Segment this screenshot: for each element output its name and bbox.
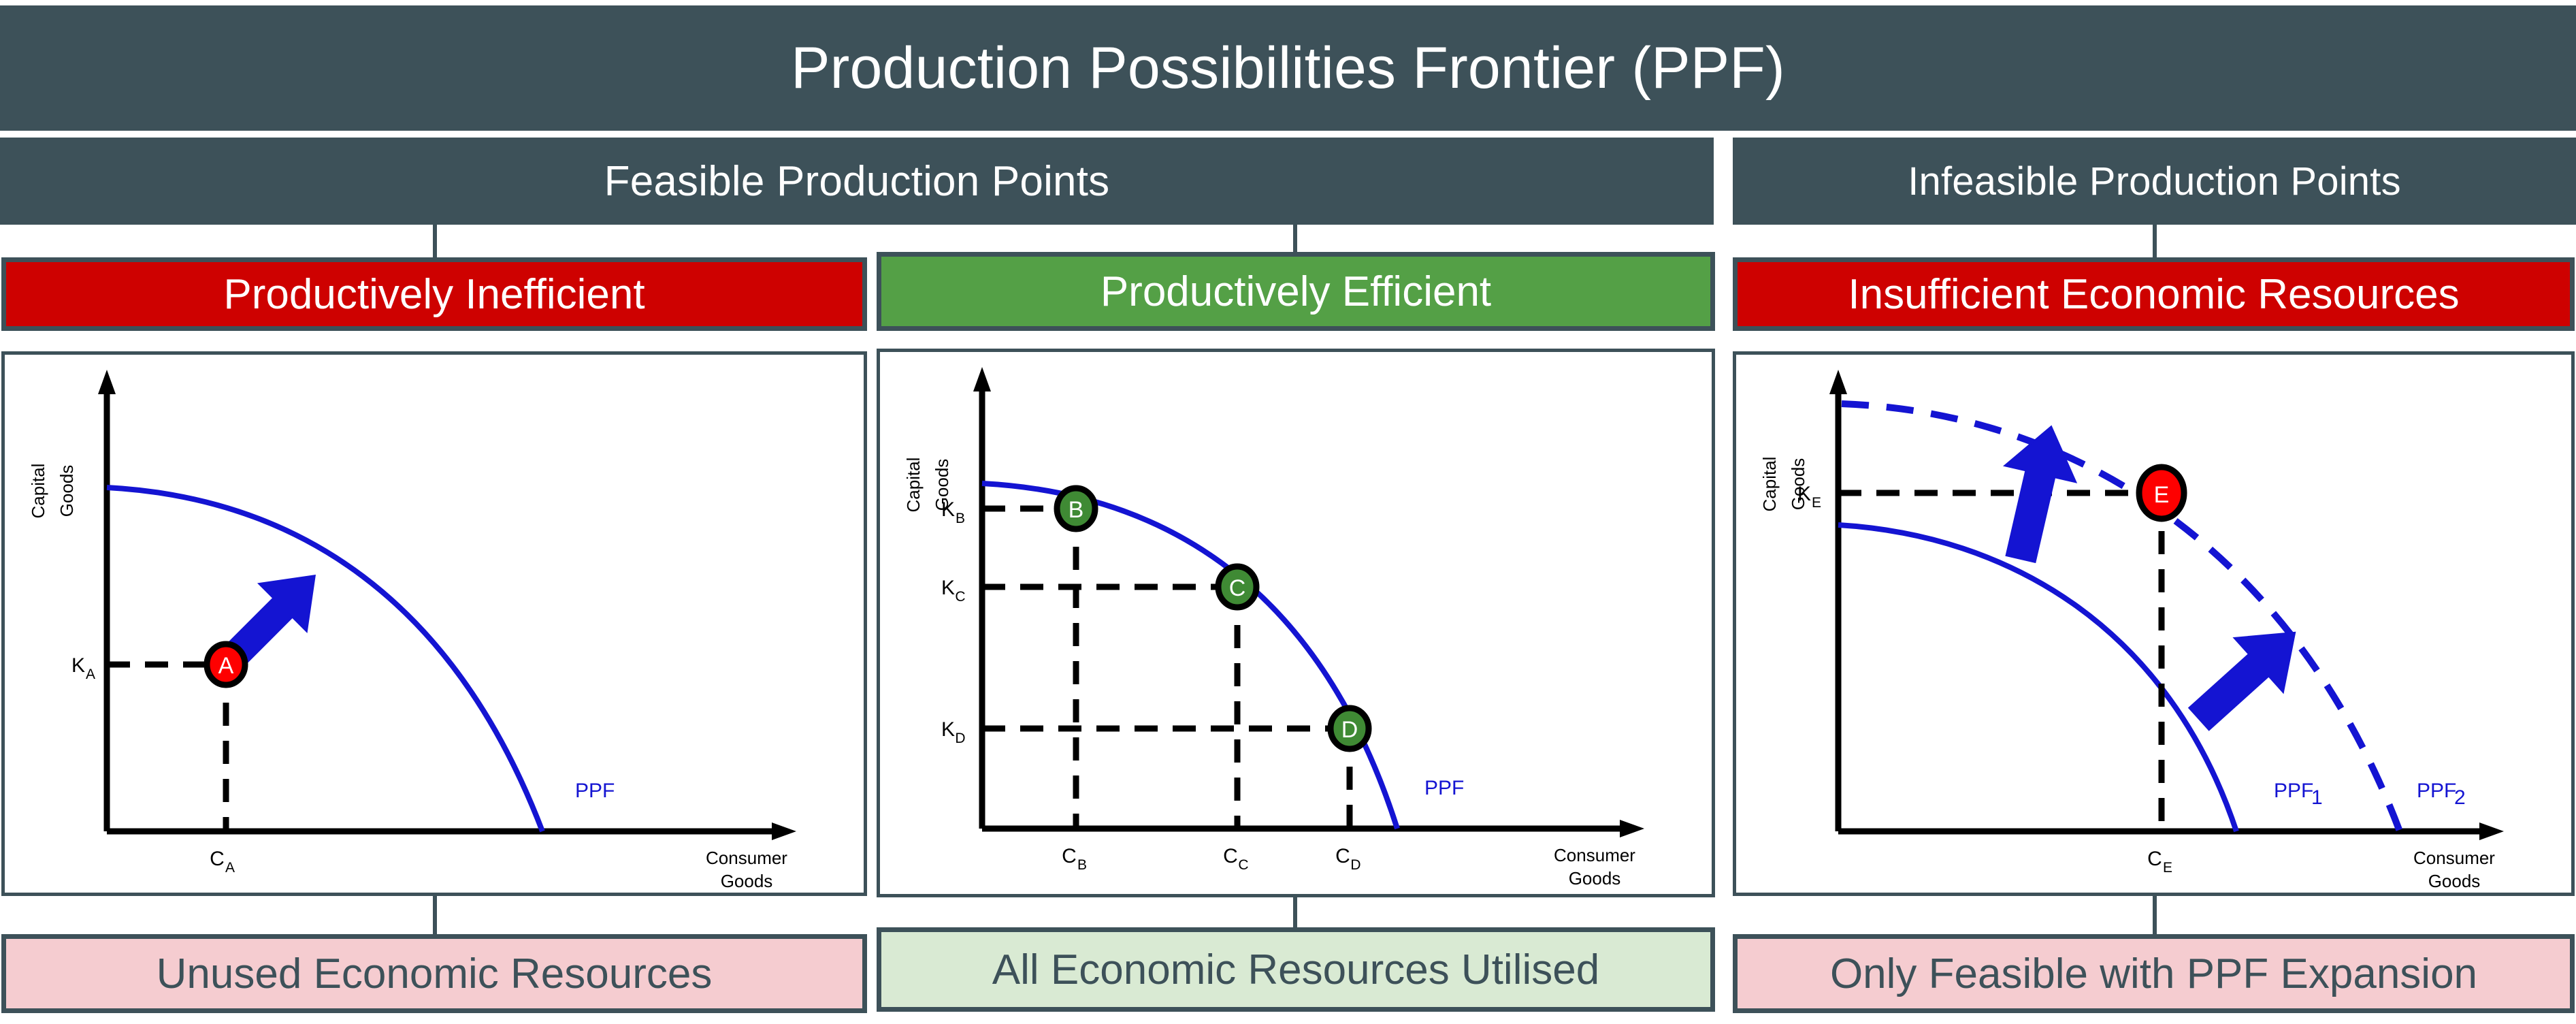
y-axis-title-a: Capital Goods	[28, 464, 77, 519]
infeasible-branch-header: Infeasible Production Points	[1733, 138, 2576, 225]
chart-panel-inefficient: Capital Goods Consumer Goods A K A C A P…	[1, 351, 867, 896]
ppf1-curve-label-c: PPF 1	[2274, 780, 2323, 809]
x-tick-cb-sub: B	[1077, 857, 1087, 873]
main-title: Production Possibilities Frontier (PPF)	[0, 5, 2576, 131]
x-axis-title-line2-a: Goods	[721, 871, 773, 891]
x-axis-title-line1-b: Consumer	[1554, 845, 1635, 865]
ppf2-curve-label-c: PPF 2	[2417, 780, 2466, 809]
y-tick-kc: K C	[941, 577, 966, 605]
connector-caption-left	[433, 896, 437, 934]
category-inefficient-label: Productively Inefficient	[223, 270, 645, 319]
chart-panel-insufficient: Capital Goods Consumer Goods E K E	[1733, 351, 2575, 896]
x-tick-ce-sub: E	[2163, 860, 2172, 876]
y-axis-title-line1-c: Capital	[1759, 457, 1780, 512]
feasible-branch-header: Feasible Production Points	[0, 138, 1714, 225]
ppf1-label-base: PPF	[2274, 780, 2313, 802]
connector-infeasible	[2153, 225, 2157, 259]
axes-a	[98, 370, 796, 840]
infeasible-branch-label: Infeasible Production Points	[1908, 159, 2401, 204]
category-efficient-label: Productively Efficient	[1100, 268, 1491, 316]
connector-caption-right	[2153, 896, 2157, 934]
caption-unused-resources[interactable]: Unused Economic Resources	[1, 934, 867, 1013]
ppf-chart-a: Capital Goods Consumer Goods A K A C A P…	[5, 355, 864, 893]
connector-feasible-right	[1293, 225, 1297, 253]
data-point-a-label: A	[218, 653, 234, 679]
x-tick-cd-sub: D	[1350, 857, 1360, 873]
y-axis-title-line1-b: Capital	[903, 458, 924, 513]
x-tick-cb: C B	[1062, 845, 1087, 873]
y-tick-kc-sub: C	[955, 589, 965, 605]
y-tick-kb-base: K	[941, 498, 955, 521]
data-point-c-label: C	[1229, 575, 1246, 601]
y-tick-ka: K A	[71, 654, 95, 682]
x-tick-cd-base: C	[1335, 845, 1350, 867]
data-point-d[interactable]: D	[1331, 708, 1369, 749]
data-point-d-label: D	[1341, 717, 1358, 743]
x-tick-cc: C C	[1223, 845, 1248, 873]
ppf-curve-label-b: PPF	[1424, 777, 1464, 799]
x-tick-cb-base: C	[1062, 845, 1077, 867]
x-tick-ce: C E	[2147, 848, 2172, 876]
y-tick-ka-sub: A	[86, 667, 95, 682]
y-tick-ka-base: K	[71, 654, 85, 677]
data-point-b-label: B	[1069, 497, 1084, 523]
x-tick-cc-base: C	[1223, 845, 1238, 867]
caption-expansion-label: Only Feasible with PPF Expansion	[1830, 950, 2477, 998]
ppf2-label-base: PPF	[2417, 780, 2456, 802]
y-axis-title-line2-a: Goods	[56, 465, 77, 517]
ppf-curve-b	[982, 483, 1397, 829]
x-axis-title-line1-c: Consumer	[2413, 848, 2495, 868]
x-tick-ca: C A	[210, 848, 235, 876]
data-point-c[interactable]: C	[1218, 566, 1256, 607]
x-tick-ce-base: C	[2147, 848, 2162, 870]
ppf-chart-c: Capital Goods Consumer Goods E K E	[1736, 355, 2571, 893]
caption-unused-label: Unused Economic Resources	[157, 950, 713, 998]
x-axis-title-line2-b: Goods	[1569, 868, 1621, 889]
data-point-a[interactable]: A	[207, 644, 245, 685]
category-productively-efficient[interactable]: Productively Efficient	[877, 252, 1715, 331]
caption-ppf-expansion[interactable]: Only Feasible with PPF Expansion	[1733, 934, 2575, 1013]
data-point-b[interactable]: B	[1057, 488, 1095, 529]
feasible-branch-label: Feasible Production Points	[604, 157, 1110, 206]
main-title-text: Production Possibilities Frontier (PPF)	[791, 35, 1785, 102]
axes-c	[1829, 370, 2504, 840]
y-tick-kd: K D	[941, 718, 966, 746]
x-tick-ca-sub: A	[225, 860, 235, 876]
y-tick-kd-base: K	[941, 718, 955, 741]
ppf-curve-label-a: PPF	[575, 780, 615, 802]
ppf2-label-sub: 2	[2454, 786, 2466, 809]
data-point-e[interactable]: E	[2139, 467, 2184, 519]
y-tick-kb-sub: B	[956, 511, 965, 526]
ppf1-label-sub: 1	[2311, 786, 2323, 809]
connector-feasible-left	[433, 225, 437, 259]
x-tick-ca-base: C	[210, 848, 225, 870]
expansion-arrow-diagonal-c	[2174, 605, 2319, 746]
caption-all-used-label: All Economic Resources Utilised	[992, 946, 1599, 994]
x-tick-cd: C D	[1335, 845, 1360, 873]
y-tick-kd-sub: D	[955, 731, 965, 746]
x-axis-title-line2-c: Goods	[2428, 871, 2481, 891]
data-point-e-label: E	[2154, 482, 2170, 508]
y-tick-kb: K B	[941, 498, 965, 526]
ppf2-curve-c	[1842, 404, 2400, 831]
ppf-curve-a	[107, 487, 542, 831]
chart-panel-efficient: Capital Goods Consumer Goods B C D K	[877, 349, 1715, 897]
ppf-chart-b: Capital Goods Consumer Goods B C D K	[880, 352, 1712, 894]
y-tick-ke-base: K	[1797, 483, 1811, 505]
y-tick-ke-sub: E	[1812, 495, 1821, 511]
ppf1-curve-c	[1838, 525, 2236, 831]
category-insufficient-resources[interactable]: Insufficient Economic Resources	[1733, 257, 2575, 331]
x-tick-cc-sub: C	[1238, 857, 1248, 873]
connector-caption-middle	[1293, 897, 1297, 927]
x-axis-title-line1-a: Consumer	[706, 848, 787, 868]
caption-all-resources-utilised[interactable]: All Economic Resources Utilised	[877, 927, 1715, 1012]
category-productively-inefficient[interactable]: Productively Inefficient	[1, 257, 867, 331]
y-axis-title-line1-a: Capital	[28, 464, 48, 519]
y-tick-kc-base: K	[941, 577, 955, 599]
category-insufficient-label: Insufficient Economic Resources	[1848, 270, 2459, 319]
